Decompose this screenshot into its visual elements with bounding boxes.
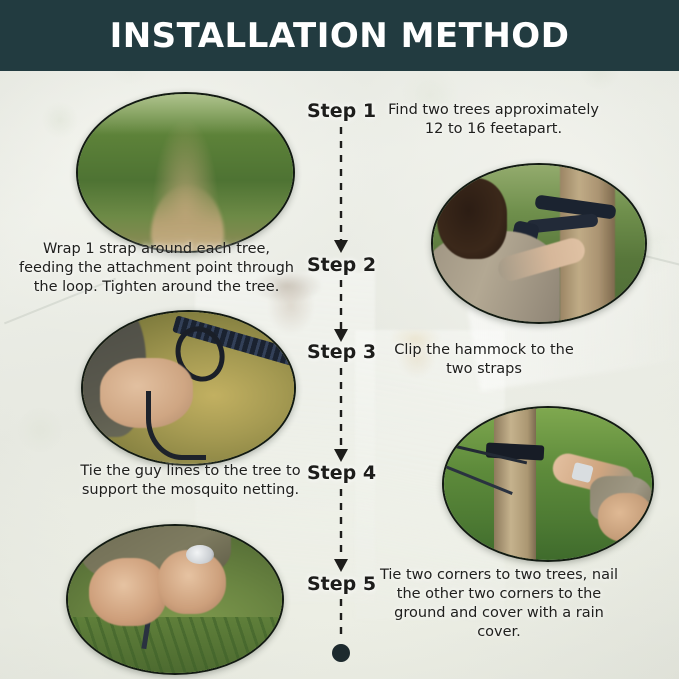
guy-line-tree-photo: [442, 406, 654, 562]
forest-sky: [78, 94, 293, 135]
forest-path-photo-image: [78, 94, 293, 251]
person-face: [598, 493, 652, 542]
hammock-cord: [146, 391, 206, 460]
person-head: [437, 178, 507, 260]
step-label-3: Step 3: [307, 341, 376, 363]
carabiner-clip-photo: [81, 310, 296, 466]
ground-stake-photo: [66, 524, 284, 675]
ground-grass: [68, 617, 282, 673]
step-caption-4: Tie the guy lines to the tree to support…: [72, 462, 309, 500]
wrist-watch: [186, 545, 214, 564]
forest-path-photo: [76, 92, 295, 253]
step-label-4: Step 4: [307, 462, 376, 484]
step-caption-5: Tie two corners to two trees, nail the o…: [378, 566, 620, 641]
tree-trunk: [494, 406, 536, 562]
step-label-2: Step 2: [307, 254, 376, 276]
strap-around-tree-photo-image: [433, 165, 645, 322]
carabiner-clip-photo-image: [83, 312, 294, 464]
strap-around-tree-photo: [431, 163, 647, 324]
person-hand-left: [89, 558, 166, 626]
step-caption-3: Clip the hammock to the two straps: [381, 341, 587, 379]
infographic-page: INSTALLATION METHOD: [0, 0, 679, 679]
header-banner: INSTALLATION METHOD: [0, 0, 679, 71]
step-caption-2: Wrap 1 strap around each tree, feeding t…: [15, 240, 298, 297]
step-label-1: Step 1: [307, 100, 376, 122]
step-label-5: Step 5: [307, 573, 376, 595]
guy-line-tree-photo-image: [444, 408, 652, 560]
step-caption-1: Find two trees approximately 12 to 16 fe…: [386, 101, 601, 139]
ground-stake-photo-image: [68, 526, 282, 673]
page-title: INSTALLATION METHOD: [110, 16, 570, 56]
